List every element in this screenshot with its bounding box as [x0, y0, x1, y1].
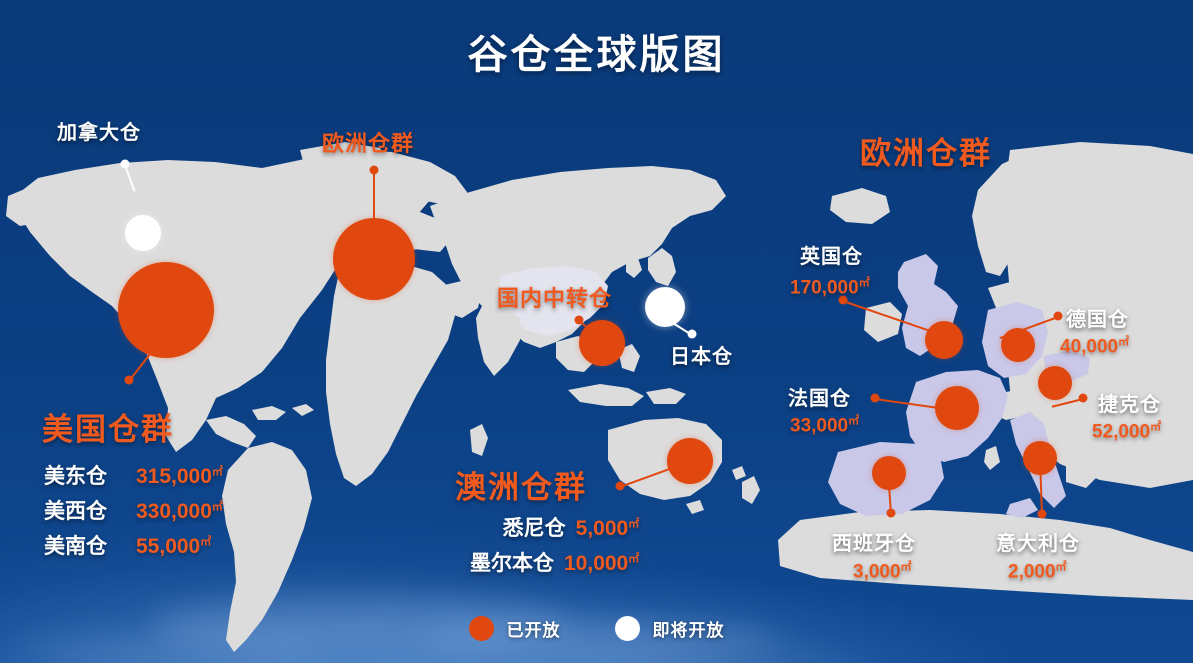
marker-endpoint-japan: [688, 330, 697, 339]
marker-germany[interactable]: [1001, 328, 1035, 362]
infographic-canvas: 谷仓全球版图 加拿大仓 欧洲仓群 国内中转仓 日本仓 美国仓群 美东仓 315,…: [0, 0, 1193, 663]
stat-row: 悉尼仓 5,000㎡: [450, 512, 639, 542]
legend-dot-soon-icon: [615, 616, 640, 641]
stat-row: 墨尔本仓 10,000㎡: [450, 547, 639, 577]
page-title: 谷仓全球版图: [0, 22, 1193, 80]
area-spain: 3,000㎡: [853, 558, 912, 583]
legend-item-open: 已开放: [469, 616, 561, 641]
marker-endpoint-czech: [1079, 394, 1088, 403]
label-china-transfer: 国内中转仓: [497, 281, 612, 313]
area-uk: 170,000㎡: [790, 274, 870, 299]
marker-endpoint-australia: [616, 482, 625, 491]
cluster-title-europe: 欧洲仓群: [860, 128, 992, 173]
marker-canada[interactable]: [125, 215, 161, 251]
label-france: 法国仓: [788, 382, 851, 411]
marker-czech[interactable]: [1038, 366, 1072, 400]
marker-australia[interactable]: [667, 438, 713, 484]
warehouse-area: 55,000㎡: [136, 533, 211, 559]
warehouse-area: 315,000㎡: [136, 463, 223, 489]
marker-endpoint-europe-world: [370, 166, 379, 175]
marker-endpoint-spain: [887, 509, 896, 518]
legend-label-open: 已开放: [507, 616, 561, 641]
warehouse-area: 330,000㎡: [136, 498, 223, 524]
marker-endpoint-china: [575, 316, 584, 325]
marker-endpoint-italy: [1038, 510, 1047, 519]
marker-usa[interactable]: [118, 262, 214, 358]
cluster-title-usa: 美国仓群: [42, 404, 174, 449]
area-czech: 52,000㎡: [1092, 418, 1161, 443]
area-italy: 2,000㎡: [1008, 558, 1067, 583]
label-czech: 捷克仓: [1098, 388, 1161, 417]
label-japan: 日本仓: [670, 340, 733, 369]
marker-endpoint-usa: [125, 376, 134, 385]
stat-row: 美西仓 330,000㎡: [44, 495, 223, 525]
cluster-stats-australia: 悉尼仓 5,000㎡ 墨尔本仓 10,000㎡: [450, 512, 639, 582]
warehouse-name: 悉尼仓: [462, 512, 576, 542]
warehouse-name: 美东仓: [44, 460, 136, 490]
label-spain: 西班牙仓: [832, 527, 916, 556]
cluster-stats-usa: 美东仓 315,000㎡ 美西仓 330,000㎡ 美南仓 55,000㎡: [44, 460, 223, 565]
marker-china[interactable]: [579, 320, 625, 366]
area-germany: 40,000㎡: [1060, 333, 1129, 358]
legend-label-soon: 即将开放: [653, 616, 725, 641]
marker-uk[interactable]: [925, 321, 963, 359]
label-uk: 英国仓: [800, 240, 863, 269]
warehouse-area: 10,000㎡: [564, 550, 639, 576]
marker-spain[interactable]: [872, 456, 906, 490]
warehouse-area: 5,000㎡: [576, 515, 640, 541]
label-europe-cluster-world: 欧洲仓群: [322, 126, 414, 158]
marker-japan[interactable]: [645, 287, 685, 327]
marker-endpoint-canada: [121, 160, 130, 169]
marker-endpoint-germany: [1054, 312, 1063, 321]
stat-row: 美东仓 315,000㎡: [44, 460, 223, 490]
area-france: 33,000㎡: [790, 412, 859, 437]
cluster-title-australia: 澳洲仓群: [455, 462, 587, 507]
legend-dot-open-icon: [469, 616, 494, 641]
marker-europe-world[interactable]: [333, 218, 415, 300]
legend-item-soon: 即将开放: [615, 616, 725, 641]
label-canada: 加拿大仓: [57, 116, 141, 145]
stat-row: 美南仓 55,000㎡: [44, 530, 223, 560]
label-italy: 意大利仓: [996, 527, 1080, 556]
marker-italy[interactable]: [1023, 441, 1057, 475]
marker-france[interactable]: [935, 386, 979, 430]
warehouse-name: 墨尔本仓: [450, 547, 564, 577]
warehouse-name: 美南仓: [44, 530, 136, 560]
warehouse-name: 美西仓: [44, 495, 136, 525]
marker-endpoint-france: [871, 394, 880, 403]
label-germany: 德国仓: [1066, 303, 1129, 332]
legend: 已开放 即将开放: [0, 616, 1193, 641]
